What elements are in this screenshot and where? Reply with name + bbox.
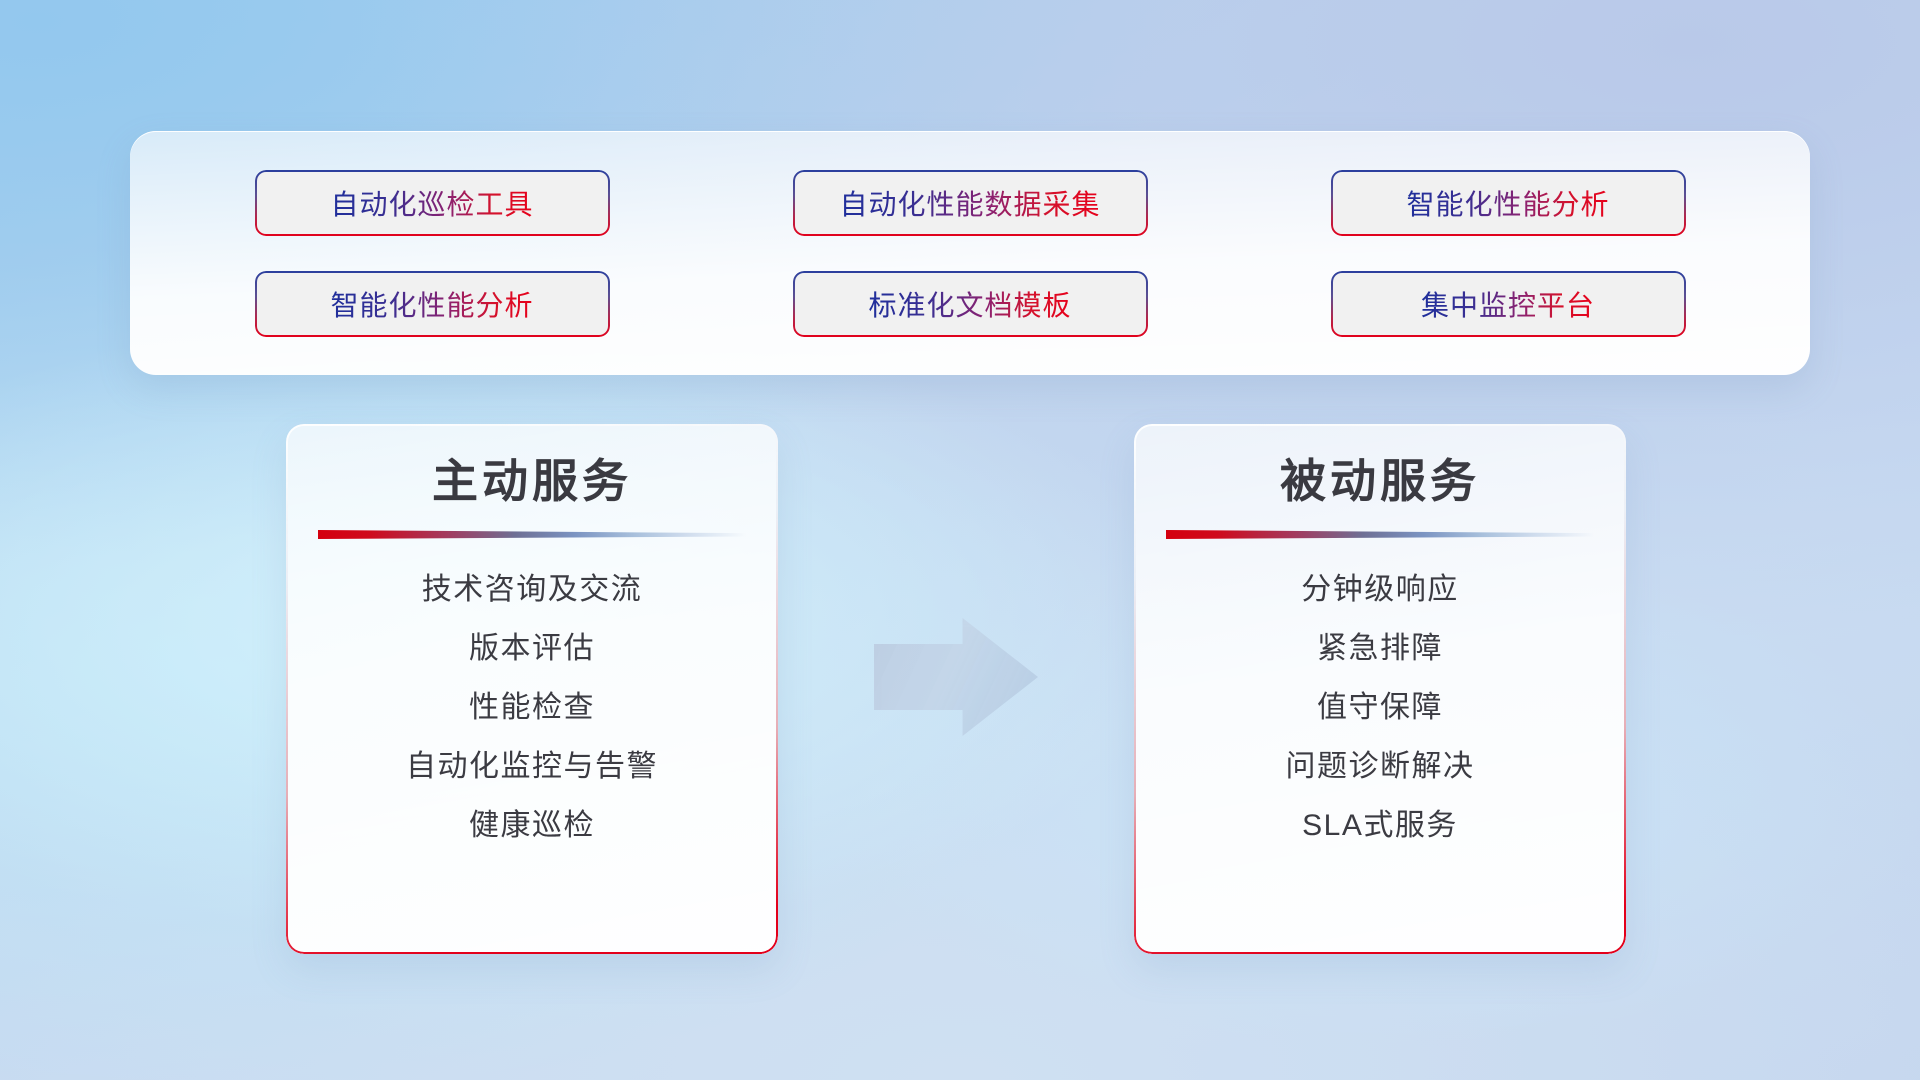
capabilities-panel: 自动化巡检工具 自动化性能数据采集 智能化性能分析 智能化性能分析 标准化文档模… bbox=[130, 131, 1810, 375]
service-card-passive-list: 分钟级响应 紧急排障 值守保障 问题诊断解决 SLA式服务 bbox=[1166, 573, 1594, 842]
service-card-passive-title: 被动服务 bbox=[1280, 458, 1480, 504]
capability-pill-automated-inspection-tool[interactable]: 自动化巡检工具 bbox=[255, 170, 610, 236]
service-card-active: 主动服务 技术咨询及交流 版本评估 性能检查 自动化监控与告警 健康巡检 bbox=[286, 424, 778, 954]
list-item: 健康巡检 bbox=[469, 809, 595, 842]
capability-pill-automated-performance-data-collection[interactable]: 自动化性能数据采集 bbox=[793, 170, 1148, 236]
service-card-passive-body: 被动服务 分钟级响应 紧急排障 值守保障 问题诊断解决 SLA式服务 bbox=[1134, 424, 1626, 954]
list-item: 自动化监控与告警 bbox=[406, 750, 658, 783]
service-card-passive-divider bbox=[1166, 530, 1594, 539]
capability-pill-intelligent-performance-analysis-2[interactable]: 智能化性能分析 bbox=[255, 271, 610, 337]
list-item: 性能检查 bbox=[469, 691, 595, 724]
capability-pill-label: 智能化性能分析 bbox=[330, 284, 533, 324]
capability-pill-intelligent-performance-analysis-1[interactable]: 智能化性能分析 bbox=[1331, 170, 1686, 236]
service-card-active-list: 技术咨询及交流 版本评估 性能检查 自动化监控与告警 健康巡检 bbox=[318, 573, 746, 842]
service-card-active-divider bbox=[318, 530, 746, 539]
list-item: 值守保障 bbox=[1317, 691, 1443, 724]
capability-pill-label: 智能化性能分析 bbox=[1406, 183, 1609, 223]
capability-pill-label: 自动化性能数据采集 bbox=[839, 183, 1100, 223]
list-item: 紧急排障 bbox=[1317, 632, 1443, 665]
list-item: 分钟级响应 bbox=[1301, 573, 1459, 606]
capability-pill-standardized-document-template[interactable]: 标准化文档模板 bbox=[793, 271, 1148, 337]
capability-pill-centralized-monitoring-platform[interactable]: 集中监控平台 bbox=[1331, 271, 1686, 337]
service-card-active-title: 主动服务 bbox=[432, 458, 632, 504]
capability-pill-label: 集中监控平台 bbox=[1421, 284, 1595, 324]
service-card-active-body: 主动服务 技术咨询及交流 版本评估 性能检查 自动化监控与告警 健康巡检 bbox=[286, 424, 778, 954]
service-card-passive: 被动服务 分钟级响应 紧急排障 值守保障 问题诊断解决 SLA式服务 bbox=[1134, 424, 1626, 954]
list-item: SLA式服务 bbox=[1302, 809, 1458, 842]
list-item: 版本评估 bbox=[469, 632, 595, 665]
capability-pill-label: 自动化巡检工具 bbox=[330, 183, 533, 223]
list-item: 问题诊断解决 bbox=[1286, 750, 1475, 783]
list-item: 技术咨询及交流 bbox=[422, 573, 643, 606]
capability-pill-label: 标准化文档模板 bbox=[868, 284, 1071, 324]
